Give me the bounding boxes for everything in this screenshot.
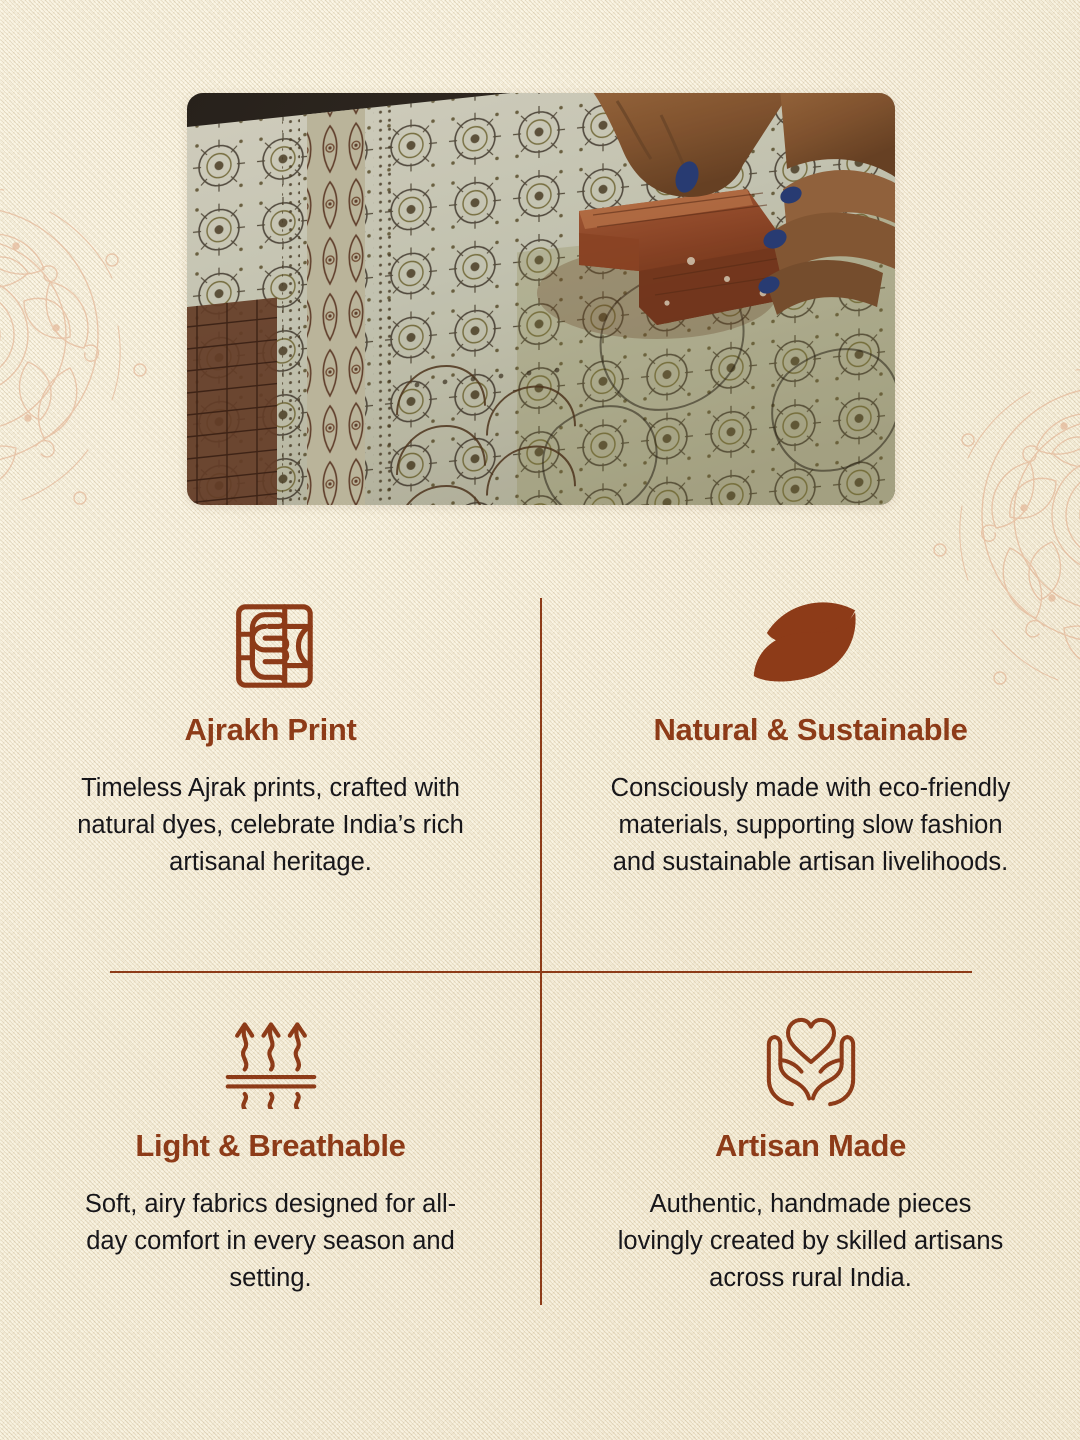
- feature-card-natural-sustainable: Natural & Sustainable Consciously made w…: [541, 560, 1080, 972]
- feature-title: Artisan Made: [715, 1128, 906, 1164]
- horizontal-divider: [110, 971, 972, 973]
- hand-block-print-icon: [222, 598, 320, 694]
- block-printing-photo: [187, 93, 895, 505]
- feature-description: Authentic, handmade pieces lovingly crea…: [606, 1186, 1016, 1297]
- feature-description: Consciously made with eco-friendly mater…: [606, 770, 1016, 881]
- hands-heart-icon: [763, 1014, 859, 1110]
- feature-title: Natural & Sustainable: [653, 712, 967, 748]
- leaf-icon: [750, 598, 872, 694]
- feature-card-light-breathable: Light & Breathable Soft, airy fabrics de…: [0, 972, 541, 1340]
- feature-card-ajrakh-print: Ajrakh Print Timeless Ajrak prints, craf…: [0, 560, 541, 972]
- feature-card-artisan-made: Artisan Made Authentic, handmade pieces …: [541, 972, 1080, 1340]
- feature-description: Soft, airy fabrics designed for all-day …: [71, 1186, 471, 1297]
- feature-title: Ajrakh Print: [184, 712, 356, 748]
- feature-title: Light & Breathable: [135, 1128, 405, 1164]
- breathable-fabric-icon: [223, 1014, 319, 1110]
- feature-description: Timeless Ajrak prints, crafted with natu…: [71, 770, 471, 881]
- vertical-divider: [540, 598, 542, 1305]
